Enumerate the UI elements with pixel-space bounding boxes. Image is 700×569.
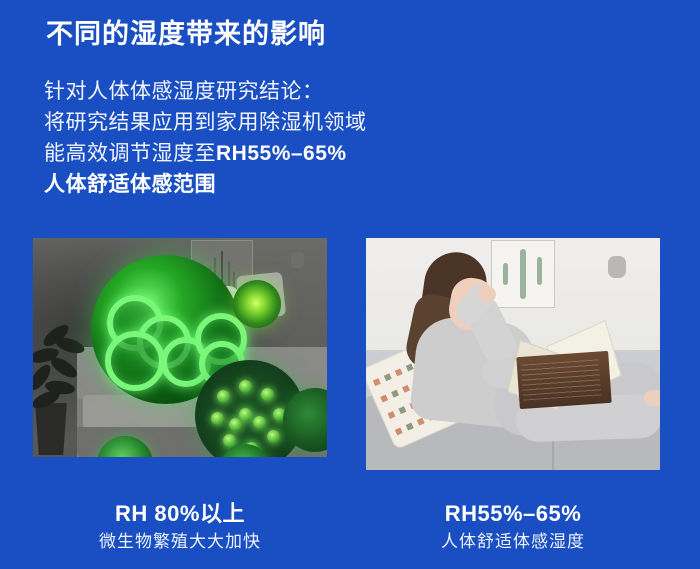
humidity-infographic-page: 不同的湿度带来的影响 针对人体体感湿度研究结论： 将研究结果应用到家用除湿机领域…	[0, 0, 700, 569]
microbe-small-top-icon	[233, 280, 281, 328]
wall-speaker-icon	[608, 256, 626, 278]
plant-leaves	[33, 323, 97, 415]
caption-high-humidity: RH 80%以上 微生物繁殖大大加快	[33, 500, 327, 554]
caption-title: RH 80%以上	[33, 500, 327, 527]
wall-art-frame-icon	[491, 240, 555, 308]
body-line-3-range: RH55%–65%	[216, 142, 347, 165]
body-line-3: 能高效调节湿度至RH55%–65%	[44, 138, 524, 169]
dim-living-room-scene	[33, 238, 327, 457]
foot	[644, 390, 660, 406]
photo-high-humidity	[33, 238, 327, 457]
page-title: 不同的湿度带来的影响	[46, 18, 326, 50]
body-line-4: 人体舒适体感范围	[44, 169, 524, 200]
caption-subtitle: 人体舒适体感湿度	[366, 530, 660, 554]
body-line-1: 针对人体体感湿度研究结论：	[44, 76, 524, 107]
body-line-3-prefix: 能高效调节湿度至	[44, 142, 216, 165]
wall-speaker-icon	[291, 252, 304, 268]
caption-title: RH55%–65%	[366, 500, 660, 527]
caption-subtitle: 微生物繁殖大大加快	[33, 530, 327, 554]
wall-art-cactus-icon	[520, 249, 526, 299]
body-copy: 针对人体体感湿度研究结论： 将研究结果应用到家用除湿机领域 能高效调节湿度至RH…	[44, 76, 524, 200]
body-line-2: 将研究结果应用到家用除湿机领域	[44, 107, 524, 138]
caption-comfort-humidity: RH55%–65% 人体舒适体感湿度	[366, 500, 660, 554]
photo-comfort-humidity	[366, 238, 660, 470]
bright-living-room-scene	[366, 238, 660, 470]
